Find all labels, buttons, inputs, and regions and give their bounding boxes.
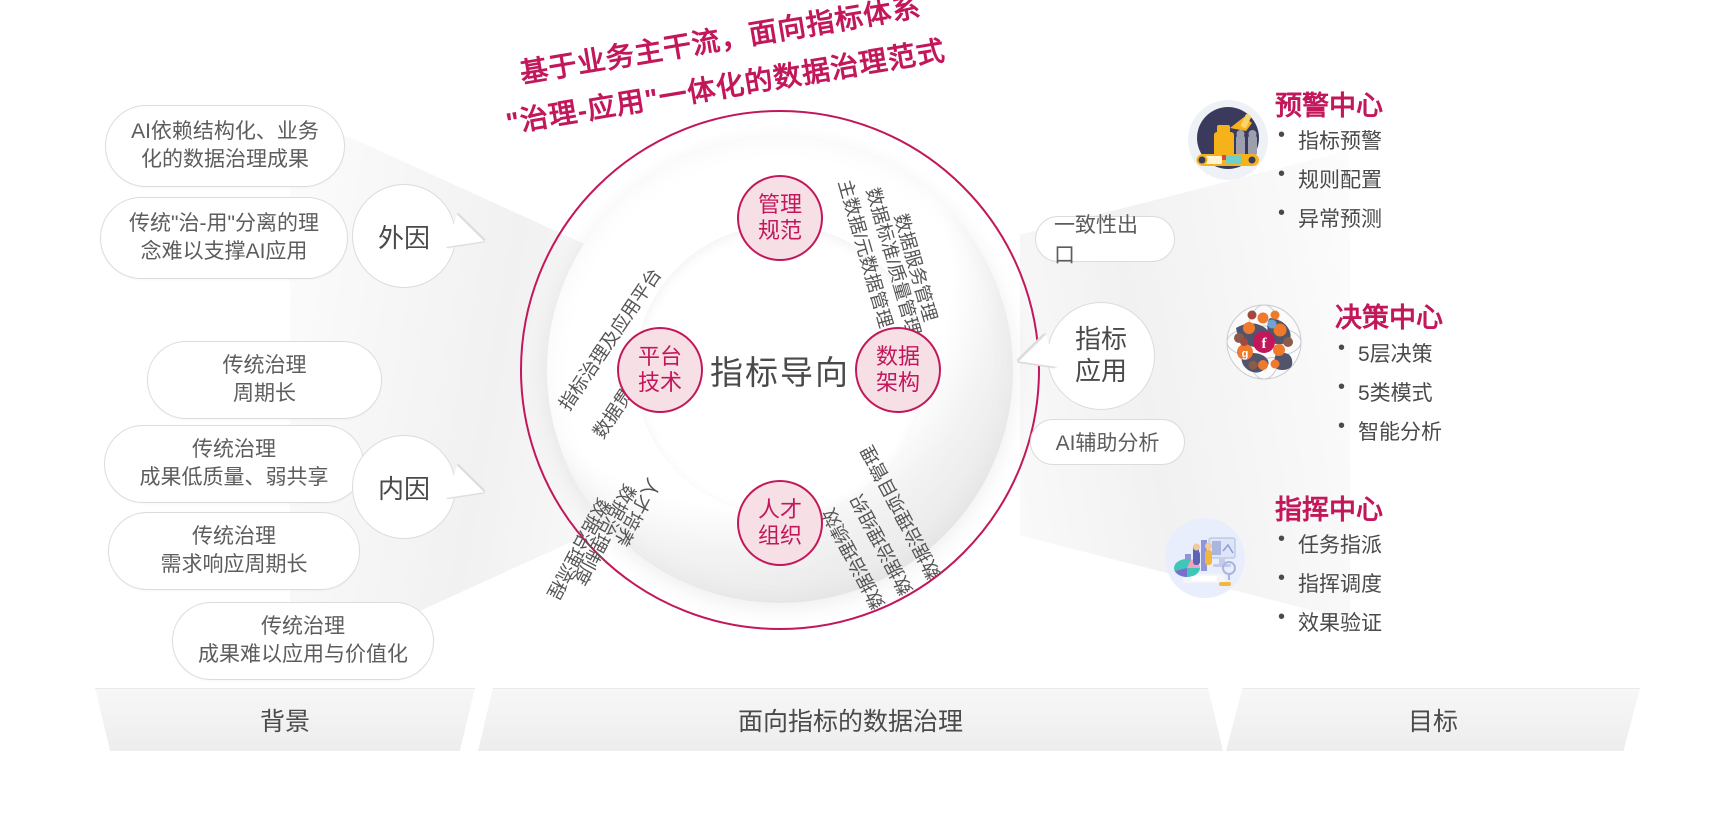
- connector-ai-assisted-analysis: AI辅助分析: [1030, 419, 1185, 465]
- cause-label: 外因: [378, 218, 430, 255]
- callout-tail-icon: [447, 215, 490, 258]
- background-pill-internal-1: 传统治理 周期长: [147, 341, 382, 419]
- pill-line: 传统治理: [140, 436, 329, 464]
- diagram-canvas: 基于业务主干流，面向指标体系 "治理-应用"一体化的数据治理范式 AI依赖结构化…: [0, 0, 1720, 820]
- goal-title-alert: 预警中心: [1275, 84, 1383, 123]
- goal-item: 5类模式: [1338, 377, 1442, 407]
- node-line: 数据: [876, 344, 920, 369]
- pill-line: 传统治理: [223, 352, 307, 380]
- goal-items-alert: 指标预警 规则配置 异常预测: [1278, 125, 1382, 242]
- node-line: 架构: [876, 370, 920, 395]
- pill-line: 念难以支撑AI应用: [129, 238, 319, 266]
- goal-title-decision: 决策中心: [1335, 296, 1443, 335]
- bottom-section-goals: 目标: [1226, 688, 1640, 751]
- node-line: 组织: [758, 523, 802, 548]
- goal-item: 异常预测: [1278, 203, 1382, 233]
- wheel-node-data-architecture[interactable]: 数据 架构: [855, 327, 941, 413]
- robot-arm-icon: [1186, 98, 1270, 182]
- goal-item: 效果验证: [1278, 607, 1382, 637]
- background-pill-external-1: AI依赖结构化、业务 化的数据治理成果: [105, 105, 345, 187]
- svg-text:g: g: [1242, 348, 1249, 360]
- pill-line: 化的数据治理成果: [131, 146, 319, 174]
- pill-line: 需求响应周期长: [161, 551, 308, 579]
- node-line: 技术: [638, 370, 682, 395]
- pill-line: 传统"治-用"分离的理: [129, 210, 319, 238]
- pill-line: 成果难以应用与价值化: [198, 641, 408, 669]
- node-line: 管理: [758, 192, 802, 217]
- connector-line: 指标: [1075, 324, 1127, 354]
- goal-item: 任务指派: [1278, 529, 1382, 559]
- goal-items-decision: 5层决策 5类模式 智能分析: [1338, 338, 1442, 455]
- goal-item: 指标预警: [1278, 125, 1382, 155]
- pill-line: 传统治理: [198, 613, 408, 641]
- node-line: 平台: [638, 344, 682, 369]
- goal-item: 规则配置: [1278, 164, 1382, 194]
- bottom-section-governance: 面向指标的数据治理: [478, 688, 1223, 751]
- cause-callout-external: 外因: [352, 184, 456, 288]
- goal-item: 智能分析: [1338, 416, 1442, 446]
- node-line: 人才: [758, 497, 802, 522]
- globe-network-icon: f g: [1222, 300, 1306, 384]
- pill-line: AI依赖结构化、业务: [131, 118, 319, 146]
- background-pill-internal-4: 传统治理 成果难以应用与价值化: [172, 602, 434, 680]
- node-line: 规范: [758, 218, 802, 243]
- goal-title-command: 指挥中心: [1275, 488, 1383, 527]
- background-pill-external-2: 传统"治-用"分离的理 念难以支撑AI应用: [100, 197, 348, 279]
- pill-line: 周期长: [223, 380, 307, 408]
- cause-label: 内因: [378, 469, 430, 506]
- governance-wheel: 指标治理及应用平台 数据贯标平台 主数据/元数据管理 数据标准/质量管理 数据服…: [505, 95, 1055, 645]
- wheel-node-talent[interactable]: 人才 组织: [737, 480, 823, 566]
- dashboard-people-icon: [1163, 516, 1247, 600]
- background-pill-internal-2: 传统治理 成果低质量、弱共享: [104, 425, 364, 503]
- connector-indicator-application: 指标 应用: [1047, 302, 1155, 410]
- wheel-node-management[interactable]: 管理 规范: [737, 175, 823, 261]
- bottom-section-bar: 背景 面向指标的数据治理 目标: [95, 688, 1640, 750]
- cause-callout-internal: 内因: [352, 435, 456, 539]
- pill-line: 传统治理: [161, 523, 308, 551]
- goal-items-command: 任务指派 指挥调度 效果验证: [1278, 529, 1382, 646]
- callout-tail-icon: [447, 466, 490, 509]
- goal-item: 5层决策: [1338, 338, 1442, 368]
- connector-consistency-output: 一致性出口: [1035, 216, 1175, 262]
- wheel-node-platform[interactable]: 平台 技术: [617, 327, 703, 413]
- pill-line: 成果低质量、弱共享: [140, 464, 329, 492]
- background-pill-internal-3: 传统治理 需求响应周期长: [108, 512, 360, 590]
- bottom-section-background: 背景: [95, 688, 475, 751]
- goal-item: 指挥调度: [1278, 568, 1382, 598]
- connector-line: 应用: [1075, 356, 1127, 386]
